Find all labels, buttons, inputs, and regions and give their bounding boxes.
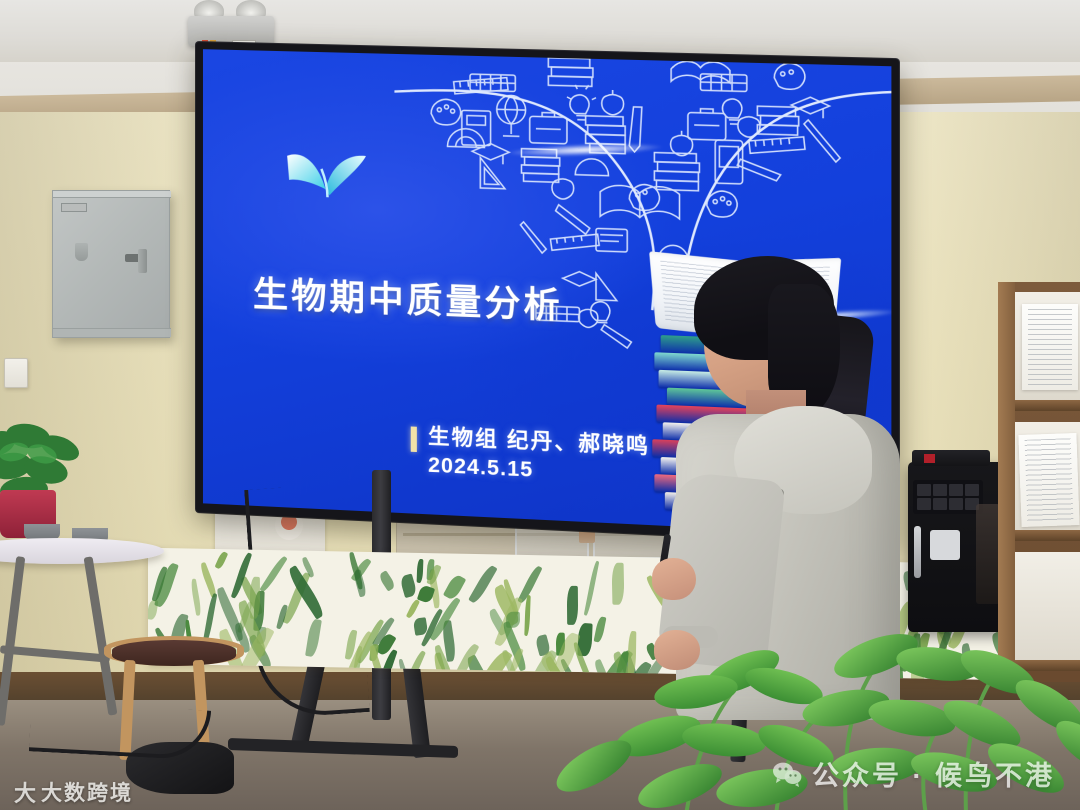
cabinet-nameplate — [87, 303, 127, 319]
fern-motif — [417, 559, 424, 583]
coffee-machine-lid — [912, 450, 990, 466]
fern-motif — [960, 643, 976, 673]
slide-title: 生物期中质量分析 — [253, 277, 563, 324]
document-sheet — [1022, 304, 1078, 390]
emergency-light-fixture — [188, 0, 274, 46]
hand — [654, 630, 700, 670]
coffee-machine-indicator — [924, 454, 935, 463]
fern-motif — [468, 564, 497, 605]
fern-motif — [584, 560, 600, 616]
coffee-machine[interactable] — [908, 462, 1004, 632]
cabinet-tag — [61, 203, 87, 212]
cabinet-base — [53, 328, 171, 337]
watermark-bottom-left: 大 大数跨境 — [14, 776, 133, 808]
watermark-left-text: 大数跨境 — [41, 777, 133, 807]
fern-motif — [189, 578, 202, 615]
light-switch[interactable] — [4, 358, 28, 388]
fern-motif — [399, 573, 418, 598]
watermark-bottom-right: 公众号 · 候鸟不港 — [772, 754, 1055, 793]
byline-date: 2024.5.15 — [428, 454, 650, 489]
fern-motif — [306, 618, 323, 657]
fern-motif — [524, 595, 531, 636]
fern-motif — [974, 658, 994, 680]
fern-motif — [215, 551, 228, 570]
electrical-cabinet — [52, 190, 170, 338]
fern-motif — [566, 585, 577, 624]
fern-motif — [505, 612, 519, 628]
fern-motif — [377, 570, 396, 591]
wooden-bookshelf — [998, 282, 1080, 682]
photo-scene: 生物期中质量分析 生物组 纪丹、郝晓鸣 2024.5.15 — [0, 0, 1080, 810]
fern-motif — [353, 569, 368, 597]
presenter — [650, 250, 920, 720]
cabinet-hinge — [75, 243, 88, 261]
hand — [652, 558, 696, 600]
dashu-logo-icon: 大 — [14, 776, 34, 808]
fern-motif — [406, 598, 420, 618]
document-sheet — [1018, 433, 1079, 527]
floor-cable — [29, 701, 211, 760]
fern-motif — [593, 616, 606, 643]
bookshelf-stile — [998, 282, 1015, 682]
coffee-control-panel[interactable] — [913, 480, 983, 514]
fern-motif — [611, 562, 624, 604]
open-book-bird-logo — [281, 137, 374, 210]
coffee-spout — [930, 530, 960, 560]
water-tank — [976, 504, 1000, 604]
slide-byline: 生物组 纪丹、郝晓鸣 2024.5.15 — [411, 424, 650, 488]
watermark-right-text: 公众号 · 候鸟不港 — [812, 754, 1055, 793]
byline-accent-bar — [411, 426, 417, 452]
wechat-icon — [772, 761, 802, 787]
cabinet-top-lip — [53, 191, 171, 198]
cabinet-lock — [125, 249, 147, 271]
fern-motif — [443, 573, 466, 601]
fern-motif — [260, 554, 289, 593]
